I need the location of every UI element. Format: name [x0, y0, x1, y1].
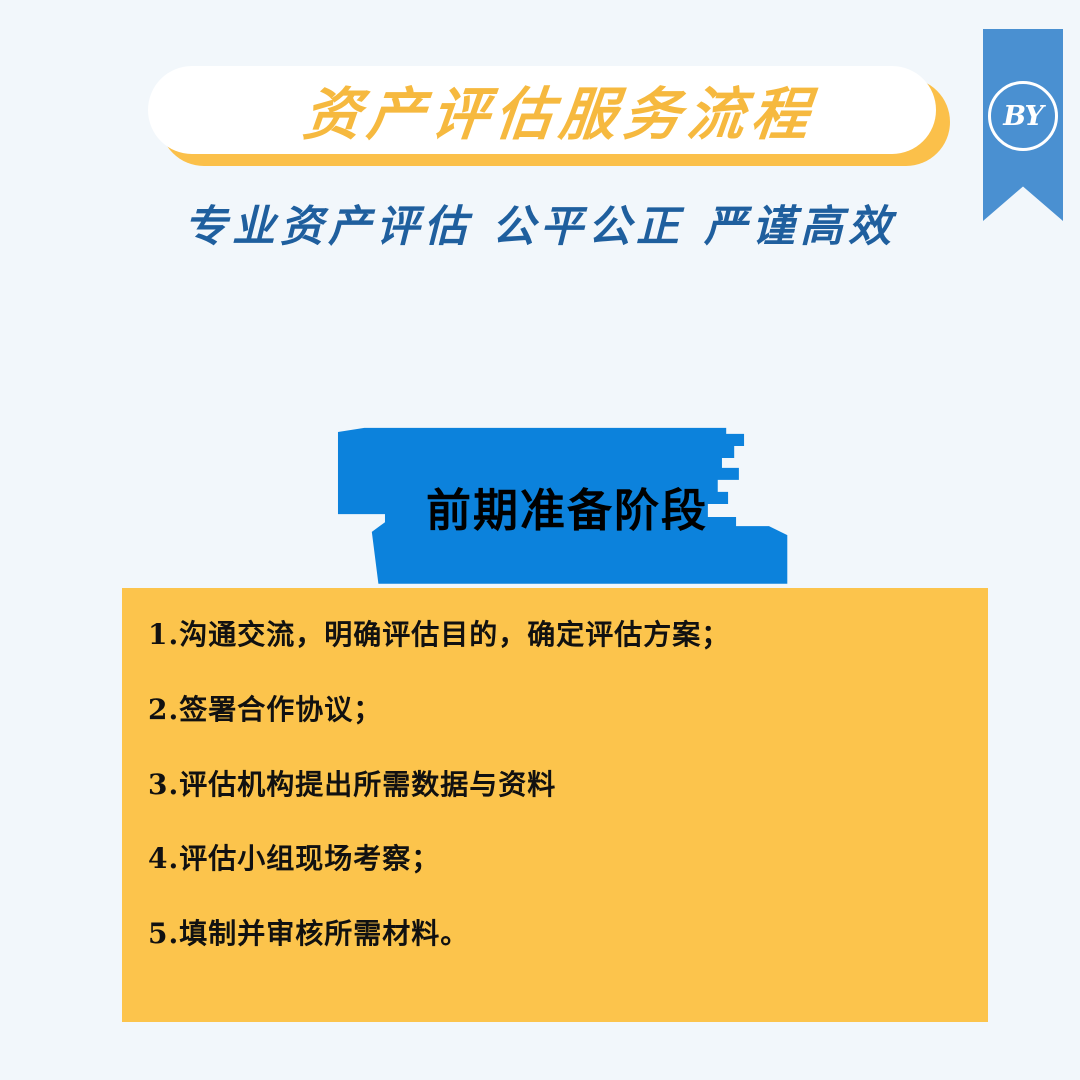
- stage-title: 前期准备阶段: [322, 425, 792, 587]
- ribbon-ring: BY: [988, 81, 1058, 151]
- list-item: 4.评估小组现场考察；: [148, 844, 962, 875]
- title-banner: 资产评估服务流程: [148, 66, 953, 166]
- list-item: 5.填制并审核所需材料。: [148, 919, 962, 950]
- list-item: 1.沟通交流，明确评估目的，确定评估方案；: [148, 620, 962, 651]
- list-item: 2.签署合作协议；: [148, 695, 962, 726]
- page-subtitle: 专业资产评估 公平公正 严谨高效: [0, 192, 1080, 254]
- steps-list: 1.沟通交流，明确评估目的，确定评估方案； 2.签署合作协议； 3.评估机构提出…: [148, 620, 962, 950]
- steps-panel: 1.沟通交流，明确评估目的，确定评估方案； 2.签署合作协议； 3.评估机构提出…: [122, 588, 988, 1022]
- page-title: 资产评估服务流程: [264, 69, 821, 151]
- brand-monogram: BY: [1003, 103, 1043, 130]
- list-item: 3.评估机构提出所需数据与资料: [148, 770, 962, 801]
- stage-banner: 前期准备阶段: [322, 425, 792, 587]
- title-pill: 资产评估服务流程: [148, 66, 936, 154]
